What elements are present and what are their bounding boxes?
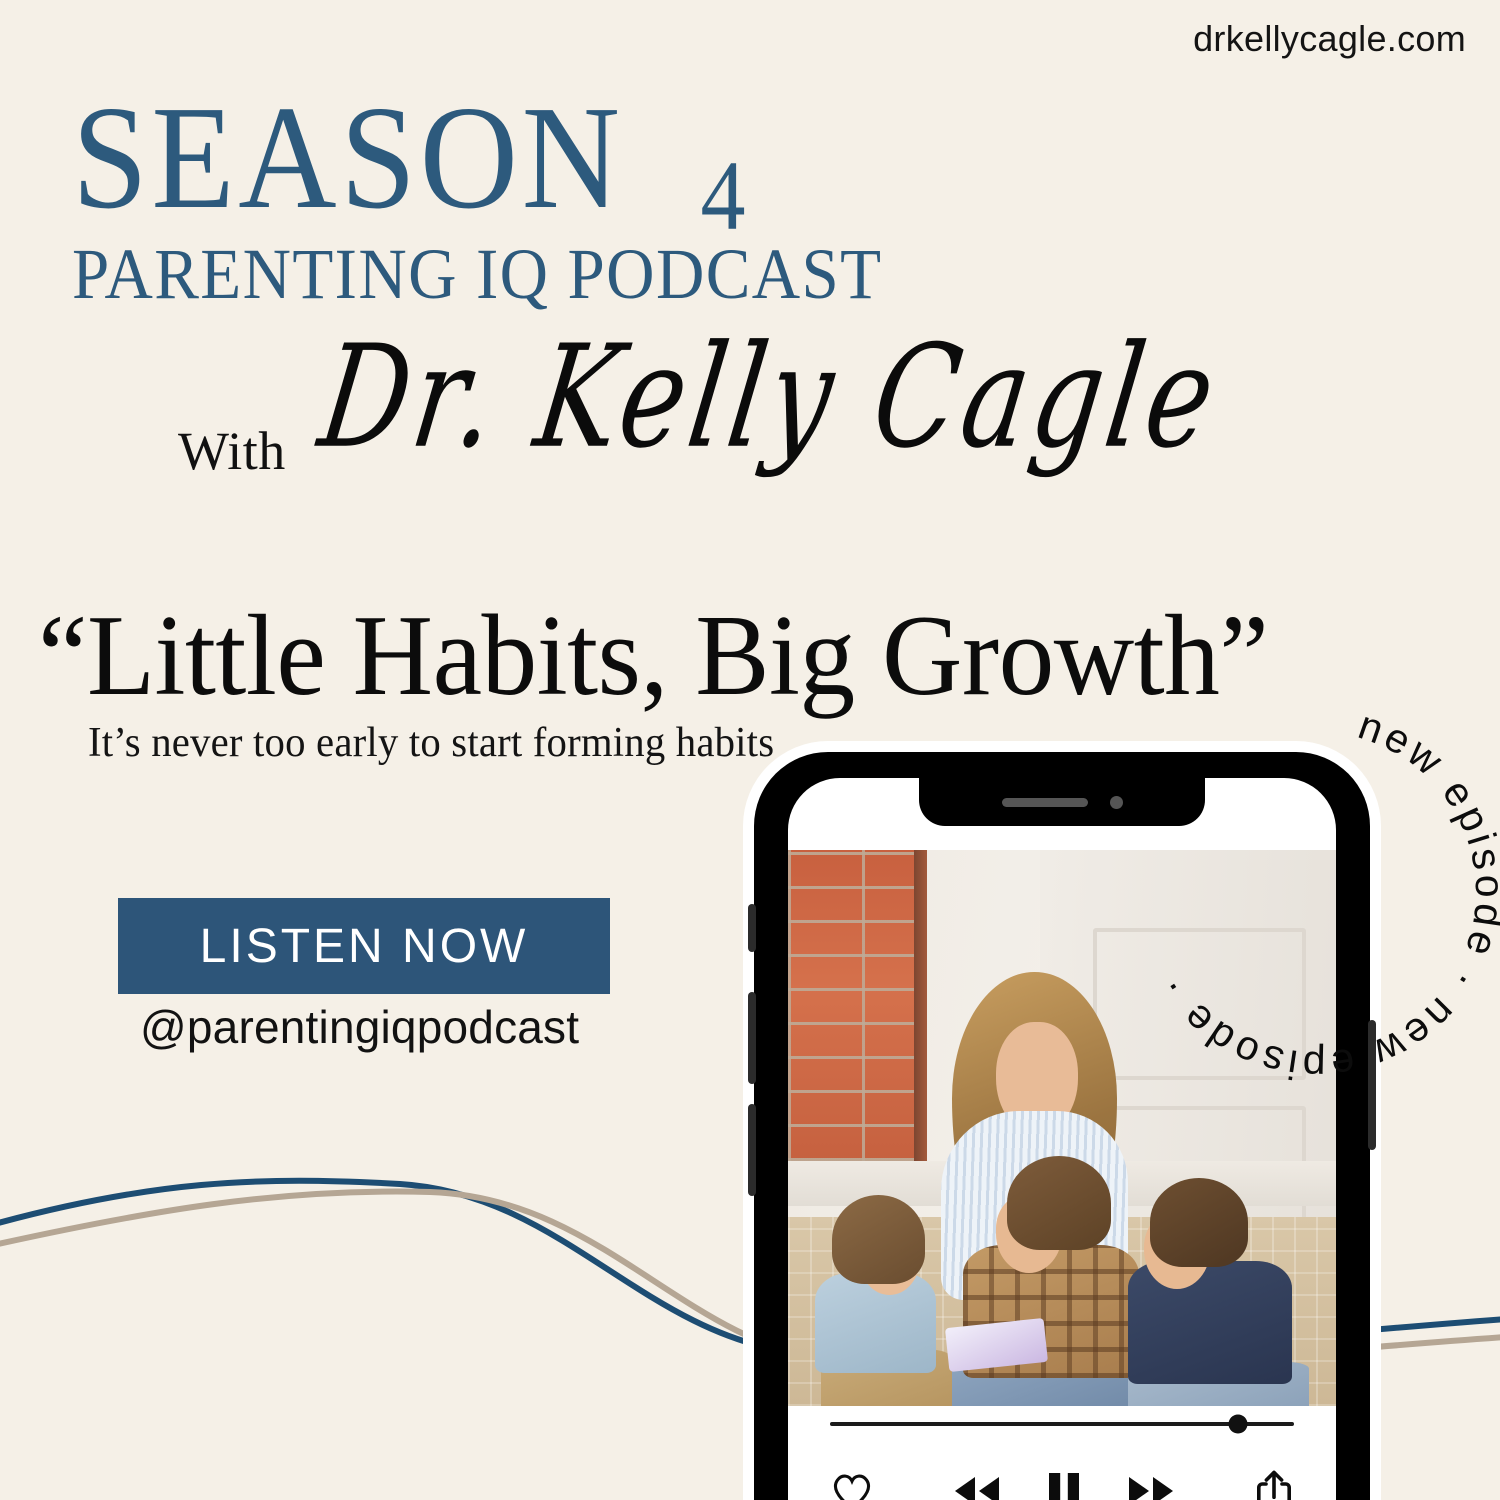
player-controls: [830, 1468, 1294, 1500]
audio-player: [788, 1418, 1336, 1500]
power-button[interactable]: [1368, 1020, 1376, 1150]
artwork-boy3-shirt: [1128, 1261, 1292, 1383]
progress-bar[interactable]: [830, 1422, 1294, 1426]
listen-now-button[interactable]: LISTEN NOW: [118, 898, 610, 994]
host-name: Dr. Kelly Cagle: [311, 315, 1228, 480]
episode-title: “Little Habits, Big Growth”: [38, 598, 1268, 714]
front-camera-icon: [1110, 796, 1123, 809]
progress-knob[interactable]: [1229, 1415, 1248, 1434]
artwork-brick-wall: [788, 850, 914, 1195]
season-word: SEASON: [72, 84, 624, 232]
phone-mockup: [742, 752, 1382, 1500]
share-icon[interactable]: [1254, 1468, 1294, 1500]
artwork-boy3-hair: [1150, 1178, 1249, 1267]
fast-forward-icon[interactable]: [1124, 1474, 1178, 1500]
podcast-promo-poster: drkellycagle.com SEASON 4 PARENTING IQ P…: [0, 0, 1500, 1500]
episode-artwork: [788, 850, 1336, 1406]
pause-icon[interactable]: [1046, 1471, 1082, 1500]
mute-switch-button[interactable]: [748, 904, 756, 952]
volume-up-button[interactable]: [748, 992, 756, 1084]
artwork-boy2-hair: [1007, 1156, 1111, 1251]
phone-notch: [919, 778, 1205, 826]
transport-controls: [950, 1471, 1178, 1500]
website-url[interactable]: drkellycagle.com: [1193, 18, 1466, 60]
artwork-brick-edge: [914, 850, 927, 1195]
rewind-icon[interactable]: [950, 1474, 1004, 1500]
volume-down-button[interactable]: [748, 1104, 756, 1196]
host-line: With Dr. Kelly Cagle: [178, 330, 1245, 465]
season-number: 4: [700, 146, 745, 246]
show-title: PARENTING IQ PODCAST: [72, 238, 882, 310]
artwork-boy1-hair: [832, 1195, 925, 1284]
phone-screen: [788, 778, 1336, 1500]
season-heading: SEASON 4: [72, 84, 748, 232]
with-word: With: [178, 420, 286, 482]
heart-icon[interactable]: [830, 1471, 874, 1500]
listen-now-label: LISTEN NOW: [200, 919, 529, 974]
episode-subtitle: It’s never too early to start forming ha…: [88, 722, 774, 764]
phone-body: [754, 752, 1370, 1500]
social-handle: @parentingiqpodcast: [140, 1000, 579, 1054]
speaker-grille-icon: [1002, 798, 1088, 807]
